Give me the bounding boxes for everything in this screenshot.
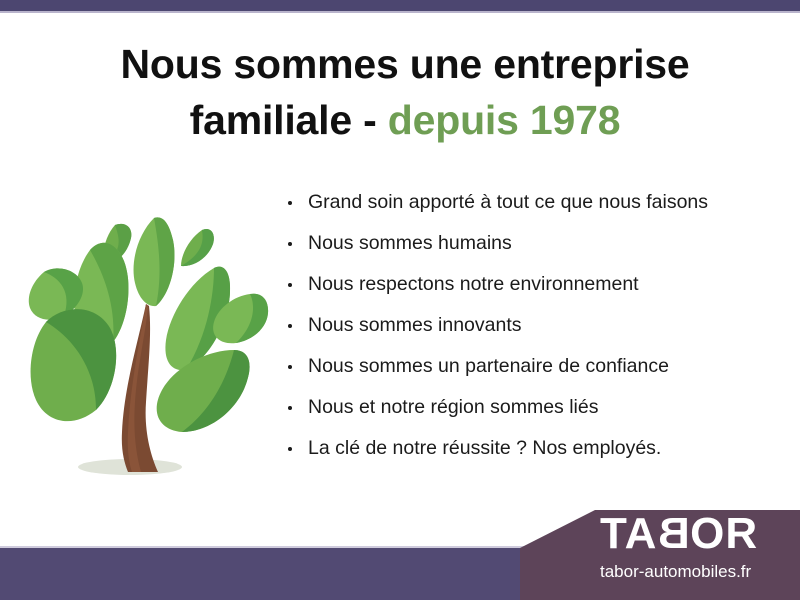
top-accent-band: [0, 0, 800, 11]
bullet-dot-icon: [288, 283, 292, 287]
list-item-label: La clé de notre réussite ? Nos employés.: [308, 437, 661, 459]
list-item: Nous sommes humains: [286, 233, 766, 254]
page-title: Nous sommes une entreprise familiale - d…: [60, 36, 750, 148]
list-item: Nous sommes innovants: [286, 315, 766, 336]
list-item: Nous sommes un partenaire de confiance: [286, 356, 766, 377]
list-item: Grand soin apporté à tout ce que nous fa…: [286, 192, 766, 213]
list-item-label: Nous sommes innovants: [308, 314, 522, 336]
list-item: Nous et notre région sommes liés: [286, 397, 766, 418]
bullet-dot-icon: [288, 406, 292, 410]
bullet-dot-icon: [288, 324, 292, 328]
list-item-label: Nous et notre région sommes liés: [308, 396, 598, 418]
logo-text-part2: OR: [690, 509, 758, 558]
list-item-label: Nous respectons notre environnement: [308, 273, 639, 295]
bullet-dot-icon: [288, 201, 292, 205]
top-accent-hairline: [0, 11, 800, 13]
headline-line-2-main: familiale -: [190, 97, 388, 143]
logo-text-part1: TA: [600, 509, 657, 558]
tree-leaf-2: [134, 217, 175, 306]
list-item-label: Grand soin apporté à tout ce que nous fa…: [308, 191, 708, 213]
list-item-label: Nous sommes humains: [308, 232, 512, 254]
headline-line-1: Nous sommes une entreprise: [121, 41, 690, 87]
slide-canvas: Nous sommes une entreprise familiale - d…: [0, 0, 800, 600]
list-item: Nous respectons notre environnement: [286, 274, 766, 295]
bullet-dot-icon: [288, 447, 292, 451]
tree-leaf-8: [31, 309, 117, 421]
brand-logo-wordmark: TABOR: [600, 512, 800, 556]
headline-line-2-accent: depuis 1978: [388, 97, 621, 143]
list-item: La clé de notre réussite ? Nos employés.: [286, 438, 766, 459]
tree-leaf-3: [181, 229, 214, 266]
tree-illustration: [18, 182, 280, 482]
tree-trunk: [122, 304, 158, 472]
list-item-label: Nous sommes un partenaire de confiance: [308, 355, 669, 377]
bullet-dot-icon: [288, 365, 292, 369]
bullet-dot-icon: [288, 242, 292, 246]
value-bullet-list: Grand soin apporté à tout ce que nous fa…: [286, 192, 766, 479]
logo-text-mirrored-b: B: [657, 512, 690, 556]
brand-website-url: tabor-automobiles.fr: [600, 562, 800, 582]
